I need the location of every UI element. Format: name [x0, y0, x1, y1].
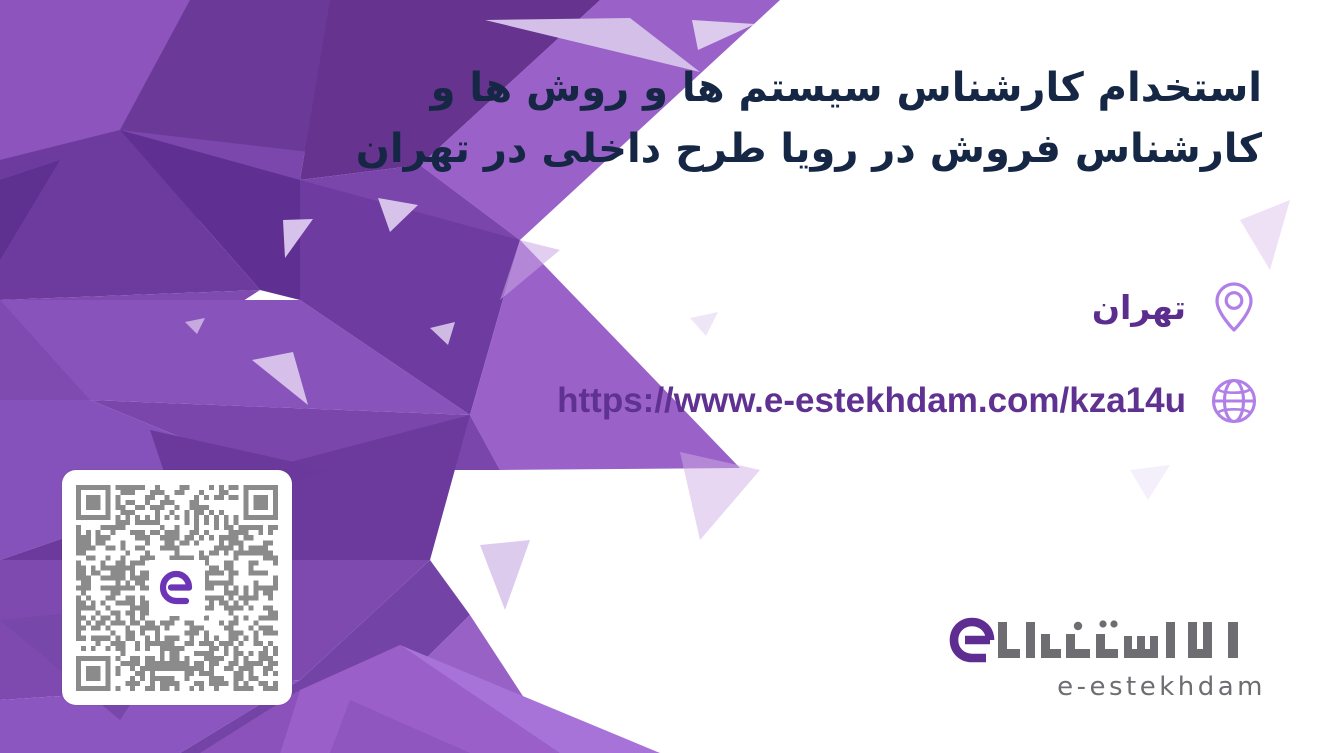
page-title: استخدام کارشناس سیستم ها و روش ها و کارش… — [342, 58, 1262, 180]
brand-wordmark-latin: e-estekhdam — [938, 672, 1268, 702]
map-pin-icon — [1206, 279, 1262, 335]
globe-icon — [1206, 373, 1262, 429]
brand-wordmark-fa — [938, 612, 1268, 668]
website-url[interactable]: https://www.e-estekhdam.com/kza14u — [557, 381, 1186, 421]
location-row: تهران — [1092, 279, 1262, 335]
brand-logo: e-estekhdam — [938, 612, 1268, 702]
qr-center-logo — [149, 560, 205, 616]
job-share-card: استخدام کارشناس سیستم ها و روش ها و کارش… — [0, 0, 1340, 753]
qr-code[interactable] — [62, 470, 292, 705]
website-row[interactable]: https://www.e-estekhdam.com/kza14u — [557, 373, 1262, 429]
location-label: تهران — [1092, 288, 1186, 327]
